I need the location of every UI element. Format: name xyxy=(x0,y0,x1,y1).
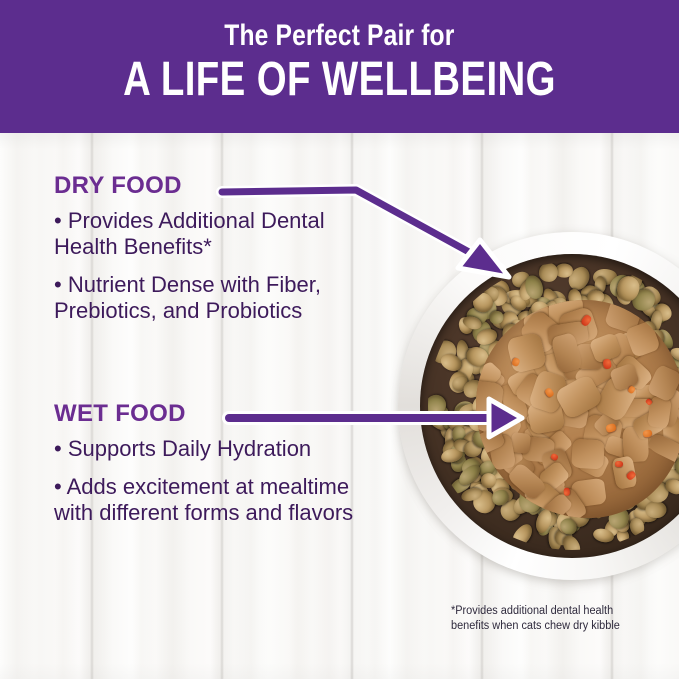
header-banner: The Perfect Pair for A LIFE OF WELLBEING xyxy=(0,0,679,133)
dry-food-bullet-2-text: Nutrient Dense with Fiber, Prebiotics, a… xyxy=(54,272,321,323)
dry-food-bullet-2: • Nutrient Dense with Fiber, Prebiotics,… xyxy=(54,272,359,324)
banner-headline-small: The Perfect Pair for xyxy=(224,21,454,51)
wet-food-bullet-1-text: Supports Daily Hydration xyxy=(68,436,311,461)
wet-food-chunk xyxy=(476,380,503,415)
kibble-piece xyxy=(645,500,666,518)
bullet-marker-icon: • xyxy=(54,436,62,461)
vegetable-bit xyxy=(563,488,569,496)
bullet-marker-icon: • xyxy=(54,208,62,233)
wet-food-bullet-2-text: Adds excitement at mealtime with differe… xyxy=(54,474,353,525)
wet-food-bullet-1: • Supports Daily Hydration xyxy=(54,436,359,462)
dry-food-bullet-1-text: Provides Additional Dental Health Benefi… xyxy=(54,208,325,259)
dry-food-heading: DRY FOOD xyxy=(54,174,359,198)
footnote-line-1: *Provides additional dental health xyxy=(451,604,662,619)
section-wet-food: WET FOOD • Supports Daily Hydration • Ad… xyxy=(54,402,359,538)
banner-headline-large: A LIFE OF WELLBEING xyxy=(123,55,556,105)
bullet-marker-icon: • xyxy=(54,474,62,499)
footnote-line-2: benefits when cats chew dry kibble xyxy=(451,619,662,634)
kibble-piece xyxy=(555,264,573,278)
wet-food-bullet-2: • Adds excitement at mealtime with diffe… xyxy=(54,474,359,526)
infographic-root: The Perfect Pair for A LIFE OF WELLBEING… xyxy=(0,0,679,679)
section-dry-food: DRY FOOD • Provides Additional Dental He… xyxy=(54,174,359,336)
footnote: *Provides additional dental health benef… xyxy=(451,604,662,634)
wet-food-heading: WET FOOD xyxy=(54,402,359,426)
dry-food-bullet-1: • Provides Additional Dental Health Bene… xyxy=(54,208,359,260)
wet-food-chunk xyxy=(571,439,605,469)
bullet-marker-icon: • xyxy=(54,272,62,297)
cat-food-bowl-photo xyxy=(398,232,679,584)
kibble-piece xyxy=(538,262,559,283)
